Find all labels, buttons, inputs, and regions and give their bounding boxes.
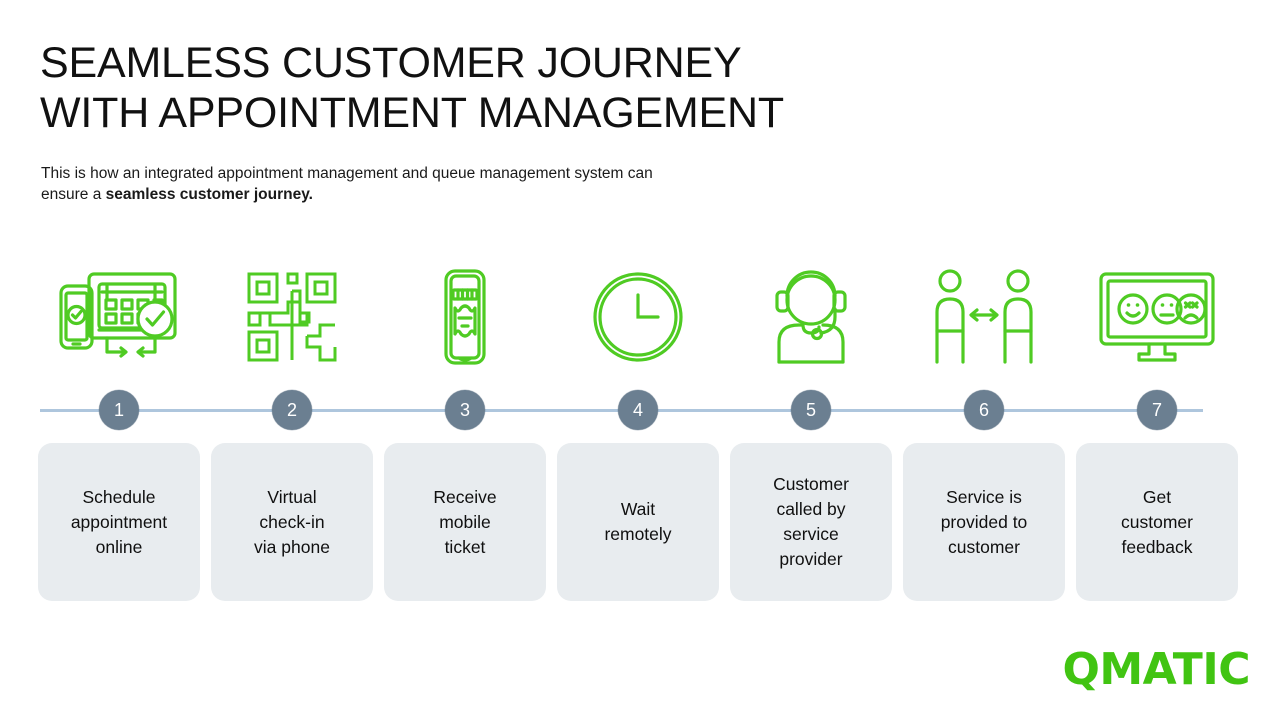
step-card[interactable]: Wait remotely xyxy=(557,443,719,601)
journey-step-1[interactable]: 1 Schedule appointment online xyxy=(38,262,200,601)
step-card[interactable]: Service is provided to customer xyxy=(903,443,1065,601)
page-title: SEAMLESS CUSTOMER JOURNEY WITH APPOINTME… xyxy=(40,38,784,138)
journey-step-6: 6 Service is provided to customer xyxy=(903,262,1065,601)
step-card-label: Wait remotely xyxy=(604,497,671,547)
clock-icon xyxy=(568,262,708,372)
page-subtitle: This is how an integrated appointment ma… xyxy=(41,163,661,205)
step-card-label: Receive mobile ticket xyxy=(433,485,496,560)
step-number-badge: 3 xyxy=(445,390,485,430)
step-card-label: Customer called by service provider xyxy=(773,472,849,572)
step-card[interactable]: Virtual check-in via phone xyxy=(211,443,373,601)
step-number-badge: 4 xyxy=(618,390,658,430)
journey-steps: 1 Schedule appointment online xyxy=(38,262,1238,607)
step-card-label: Get customer feedback xyxy=(1121,485,1193,560)
step-card-label: Schedule appointment online xyxy=(71,485,167,560)
journey-step-7: 7 Get customer feedback xyxy=(1076,262,1238,601)
step-card[interactable]: Schedule appointment online xyxy=(38,443,200,601)
step-card-label: Virtual check-in via phone xyxy=(254,485,330,560)
step-number-badge: 2 xyxy=(272,390,312,430)
step-card-label: Service is provided to customer xyxy=(941,485,1028,560)
calendar-scheduling-icon xyxy=(49,262,189,372)
step-number-badge: 6 xyxy=(964,390,1004,430)
step-number-badge: 1 xyxy=(99,390,139,430)
step-card[interactable]: Get customer feedback xyxy=(1076,443,1238,601)
journey-step-2[interactable]: 2 Virtual check-in via phone xyxy=(211,262,373,601)
journey-step-4: 4 Wait remotely xyxy=(557,262,719,601)
subtitle-bold-text: seamless customer journey. xyxy=(106,186,313,203)
two-people-distance-icon xyxy=(914,262,1054,372)
step-card[interactable]: Customer called by service provider xyxy=(730,443,892,601)
headset-agent-icon xyxy=(741,262,881,372)
step-number-badge: 7 xyxy=(1137,390,1177,430)
feedback-monitor-icon xyxy=(1087,262,1227,372)
qmatic-logo: QMATIC xyxy=(1062,644,1250,695)
customer-journey-timeline: 1 Schedule appointment online xyxy=(0,262,1277,607)
step-number-badge: 5 xyxy=(791,390,831,430)
journey-step-3: 3 Receive mobile ticket xyxy=(384,262,546,601)
qr-code-icon xyxy=(222,262,362,372)
journey-step-5: 5 Customer called by service provider xyxy=(730,262,892,601)
step-card[interactable]: Receive mobile ticket xyxy=(384,443,546,601)
mobile-ticket-icon xyxy=(395,262,535,372)
